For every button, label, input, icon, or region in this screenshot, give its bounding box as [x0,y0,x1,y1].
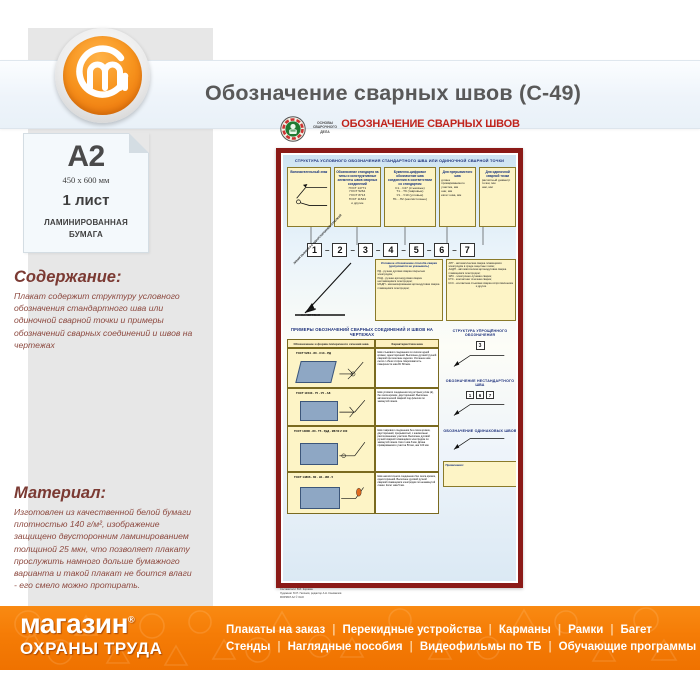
dash-sep: – [376,246,380,255]
weld-symbol-icon [336,355,370,381]
poster-section1-heading: СТРУКТУРА УСЛОВНОГО ОБОЗНАЧЕНИЯ СТАНДАРТ… [283,155,516,165]
link-separator: | [548,641,551,653]
page-root: Обозначение сварных швов (С-49) A2 450 x… [0,0,700,700]
dash-sep: – [401,246,405,255]
table-header-row: Обозначение и форма поперечного сечения … [287,339,439,348]
table-cell-drawing: ГОСТ 11533 - 75 - У5 - А8 [287,388,375,426]
leader-label-3: НА ЧЕРТЕЖЕ [301,313,320,317]
simplified-structure-column: СТРУКТУРА УПРОЩЁННОГО ОБОЗНАЧЕНИЯ 3 ОБОЗ… [443,327,516,487]
welding-emblem-icon [280,116,306,142]
structure-number-7: 7 [460,243,475,257]
table-col-header-1: Обозначение и форма поперечного сечения … [287,339,375,348]
poster-sheet[interactable]: СТРУКТУРА УСЛОВНОГО ОБОЗНАЧЕНИЯ СТАНДАРТ… [276,148,523,588]
table-cell-desc: Шов нахлёсточного соединения без скоса к… [375,472,439,514]
material-label-line1: ЛАМИНИРОВАННАЯ [24,218,148,227]
poster-section2-heading: ПРИМЕРЫ ОБОЗНАЧЕНИЙ СВАРНЫХ СОЕДИНЕНИЙ И… [287,325,437,339]
weld-drawing [295,361,336,383]
structure-number-row: 1 – 2 – 3 – 4 – 5 – 6 – 7 [307,243,512,257]
structure-number-4: 4 [383,243,398,257]
link-separator: | [610,624,613,636]
shop-banner: магазин® ОХРАНЫ ТРУДА Плакаты на заказ |… [0,606,700,670]
table-cell-drawing: ГОСТ 14806 - 80 - Н1 - Ø8 - 5 [287,472,375,514]
identical-leader-icon [445,435,515,453]
content-description-block: Содержание: Плакат содержит структуру ус… [14,268,194,351]
welding-methods-box-left: Условное обозначение способа сварки (доп… [375,259,443,321]
m-circle-logo-icon [63,36,142,115]
simplified-number-3: 3 [476,341,485,350]
material-text: Изготовлен из качественной белой бумаги … [14,506,194,591]
registered-mark: ® [128,615,134,625]
shop-name-line2: ОХРАНЫ ТРУДА [20,640,205,657]
dash-sep: – [452,246,456,255]
banner-links-row-2: Стенды | Наглядные пособия | Видеофильмы… [215,641,692,653]
link-perekidnye-ustroystva[interactable]: Перекидные устройства [336,624,489,636]
link-videofilmy-po-tb[interactable]: Видеофильмы по ТБ [413,641,549,653]
banner-links: Плакаты на заказ | Перекидные устройства… [215,606,692,670]
link-separator: | [489,624,492,636]
poster-notes-box: Примечания: [443,461,516,487]
link-separator: | [410,641,413,653]
structure-box-1: Вспомогательный знак [287,167,331,227]
structure-number-3: 3 [358,243,373,257]
structure-number-6: 6 [434,243,449,257]
dash-sep: – [350,246,354,255]
material-heading: Материал: [14,484,194,503]
table-cell-desc: Шов стыкового соединения со скосом одной… [375,348,439,388]
link-stendy[interactable]: Стенды [219,641,277,653]
nonstandard-numbers: 1 6 7 [443,391,516,399]
welding-methods-box-right: АПГ - автоматическая сварка плавящимся э… [446,259,516,321]
table-row: ГОСТ 14806 - 80 - Т5 - РдД - Ø8 50 Z 100… [287,426,439,472]
simplified-leader-icon [445,352,515,370]
poster-preview[interactable]: ОСНОВЫ СВАРОЧНОГО ДЕЛА ОБОЗНАЧЕНИЕ СВАРН… [240,108,540,608]
content-text: Плакат содержит структуру условного обоз… [14,290,194,351]
brand-logo[interactable] [55,28,150,123]
structure-box-2: Обозначение стандарта на типы и конструк… [334,167,382,227]
leader-line-diagram-icon [289,259,374,321]
dash-sep: – [325,246,329,255]
structure-number-2: 2 [332,243,347,257]
poster-title: ОБОЗНАЧЕНИЕ СВАРНЫХ ШВОВ [328,118,533,130]
weld-symbol-icon [338,481,370,505]
link-plakaty-na-zakaz[interactable]: Плакаты на заказ [219,624,332,636]
aux-symbol-diagram-icon [290,175,331,209]
banner-links-row-1: Плакаты на заказ | Перекидные устройства… [215,624,692,636]
examples-table: Обозначение и форма поперечного сечения … [287,339,439,514]
structure-box-4: Для прерывистого шва длина провариваемог… [439,167,477,227]
poster-content: СТРУКТУРА УСЛОВНОГО ОБОЗНАЧЕНИЯ СТАНДАРТ… [283,155,516,581]
table-cell-desc: Шов углового соединения под острым углом… [375,388,439,426]
structure-number-5: 5 [409,243,424,257]
link-naglyadnye-posobiya[interactable]: Наглядные пособия [281,641,410,653]
weld-drawing [300,443,338,465]
content-heading: Содержание: [14,268,194,287]
dash-sep: – [427,246,431,255]
weld-symbol-icon [336,395,370,419]
link-separator: | [332,624,335,636]
table-row: ГОСТ 14806 - 80 - Н1 - Ø8 - 5 Шов нахлёс… [287,472,439,514]
weld-drawing [300,487,340,509]
format-label: A2 [24,140,148,174]
leader-label-2: ШОВ [309,307,316,311]
structure-box-3: Буквенно-цифровое обозначение шва соедин… [384,167,436,227]
nonstandard-leader-icon [445,401,515,419]
structure-boxes-row: Вспомогательный знак Обозначение стандар… [287,167,516,227]
table-col-header-2: Характеристика шва [375,339,439,348]
sheet-count: 1 лист [24,192,148,209]
table-row: ГОСТ 11533 - 75 - У5 - А8 Шов углового с… [287,388,439,426]
link-separator: | [277,641,280,653]
table-row: ГОСТ 5264 - 80 - С13 - РД Шов стыкового … [287,348,439,388]
link-baget[interactable]: Багет [614,624,659,636]
format-spec-card: A2 450 x 600 мм 1 лист ЛАМИНИРОВАННАЯ БУ… [23,133,149,253]
poster-credits: Составители: В.И. Коровин Художник: Ю.П.… [280,588,341,600]
link-ramki[interactable]: Рамки [561,624,610,636]
table-cell-desc: Шов таврового соединения без скоса кромо… [375,426,439,472]
structure-box-5: Для одиночной сварной точки расчётный ди… [479,167,516,227]
link-separator: | [558,624,561,636]
weld-symbol-icon [336,435,370,463]
material-label-line2: БУМАГА [24,230,148,239]
format-dimensions: 450 x 600 мм [24,175,148,185]
table-cell-drawing: ГОСТ 5264 - 80 - С13 - РД [287,348,375,388]
weld-drawing [300,401,338,421]
shop-logo[interactable]: магазин® ОХРАНЫ ТРУДА [20,610,205,666]
link-obuchayushchie-programmy[interactable]: Обучающие программы [552,641,700,653]
shop-name-line1: магазин® [20,610,205,638]
link-karmany[interactable]: Карманы [492,624,558,636]
material-description-block: Материал: Изготовлен из качественной бел… [14,484,194,591]
table-cell-drawing: ГОСТ 14806 - 80 - Т5 - РдД - Ø8 50 Z 100 [287,426,375,472]
